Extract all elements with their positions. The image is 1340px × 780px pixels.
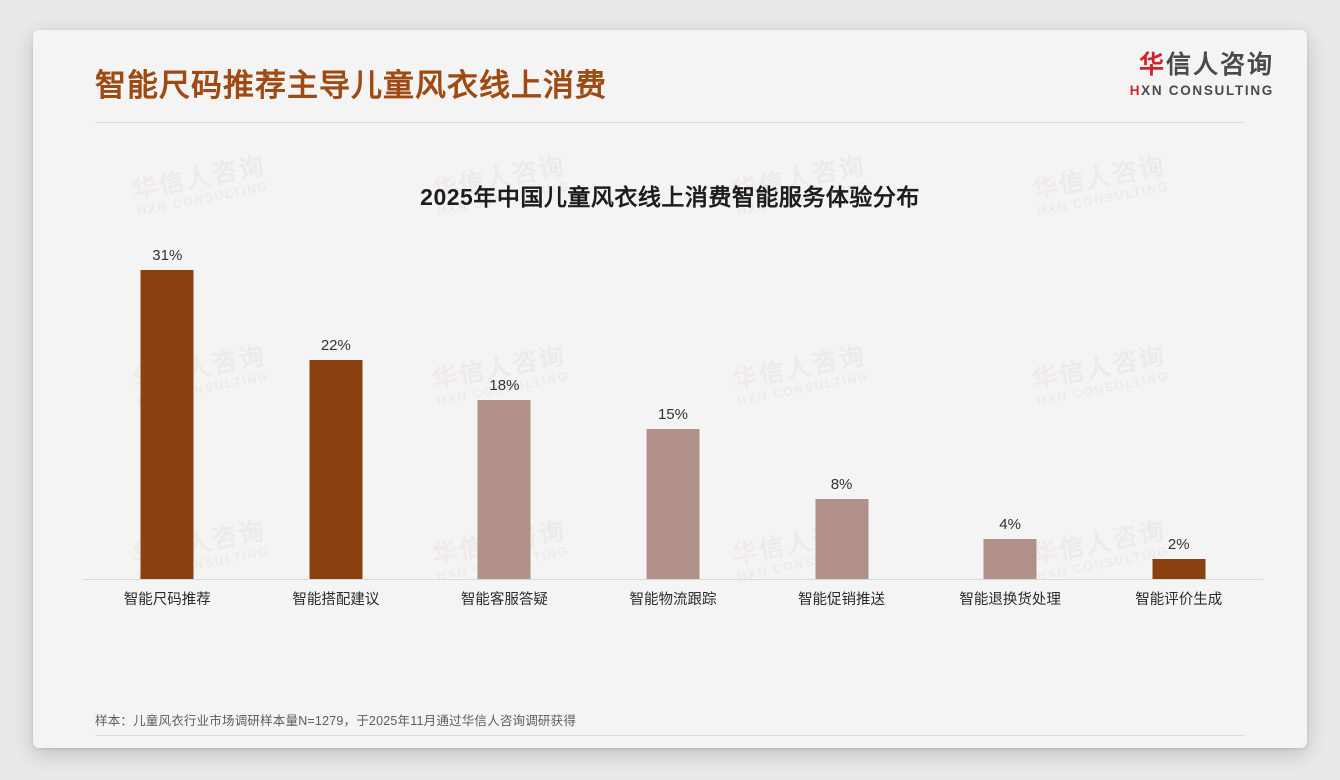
x-axis-label: 智能促销推送 — [757, 588, 926, 609]
brand-logo-en-accent: H — [1130, 83, 1141, 98]
x-axis-label: 智能尺码推荐 — [83, 588, 252, 609]
bar-value-label: 4% — [999, 516, 1021, 533]
bar-group[interactable]: 31% — [83, 240, 252, 579]
bar-group[interactable]: 18% — [420, 240, 589, 579]
chart-block: 2025年中国儿童风衣线上消费智能服务体验分布 31%22%18%15%8%4%… — [33, 130, 1307, 650]
bar[interactable] — [478, 400, 531, 579]
bar[interactable] — [984, 539, 1037, 579]
bar-value-label: 18% — [489, 377, 519, 394]
bar[interactable] — [1152, 559, 1205, 579]
bar-group[interactable]: 22% — [252, 240, 421, 579]
header-divider — [95, 122, 1245, 123]
bar[interactable] — [309, 360, 362, 579]
sample-footnote: 样本：儿童风衣行业市场调研样本量N=1279，于2025年11月通过华信人咨询调… — [95, 710, 576, 729]
x-axis-line — [83, 579, 1263, 580]
brand-logo-cn-rest: 信人咨询 — [1166, 51, 1274, 79]
bar-group[interactable]: 15% — [589, 240, 758, 579]
bar-value-label: 22% — [321, 337, 351, 354]
footer-divider — [95, 735, 1245, 736]
bar-chart-plot: 31%22%18%15%8%4%2% — [83, 240, 1263, 580]
brand-logo-en: HXN CONSULTING — [1130, 84, 1274, 98]
brand-logo-cn: 华信人咨询 — [1130, 53, 1274, 78]
chart-title: 2025年中国儿童风衣线上消费智能服务体验分布 — [33, 178, 1307, 212]
x-axis-label: 智能退换货处理 — [926, 588, 1095, 609]
x-axis-label: 智能评价生成 — [1094, 588, 1263, 609]
bar-value-label: 31% — [152, 247, 182, 264]
brand-logo-cn-accent: 华 — [1139, 51, 1166, 79]
slide-card: 华信人咨询HXN CONSULTING华信人咨询HXN CONSULTING华信… — [33, 30, 1307, 748]
brand-logo: 华信人咨询 HXN CONSULTING — [1130, 53, 1274, 98]
bar-group[interactable]: 2% — [1094, 240, 1263, 579]
bar-value-label: 8% — [831, 476, 853, 493]
bar-value-label: 2% — [1168, 536, 1190, 553]
x-axis-category-labels: 智能尺码推荐智能搭配建议智能客服答疑智能物流跟踪智能促销推送智能退换货处理智能评… — [83, 588, 1263, 614]
bar-group[interactable]: 8% — [757, 240, 926, 579]
bar-series: 31%22%18%15%8%4%2% — [83, 240, 1263, 579]
x-axis-label: 智能搭配建议 — [252, 588, 421, 609]
bar-group[interactable]: 4% — [926, 240, 1095, 579]
bar[interactable] — [815, 499, 868, 579]
page-title: 智能尺码推荐主导儿童风衣线上消费 — [95, 60, 607, 105]
x-axis-label: 智能客服答疑 — [420, 588, 589, 609]
bar-value-label: 15% — [658, 406, 688, 423]
brand-logo-en-rest: XN CONSULTING — [1141, 83, 1274, 98]
slide-footer: ©2026.1 HXR华信人咨询 www.hxrcon.com — [33, 743, 1307, 748]
x-axis-label: 智能物流跟踪 — [589, 588, 758, 609]
bar[interactable] — [646, 429, 699, 579]
bar[interactable] — [141, 270, 194, 579]
slide-header: 智能尺码推荐主导儿童风衣线上消费 华信人咨询 HXN CONSULTING — [33, 30, 1307, 122]
